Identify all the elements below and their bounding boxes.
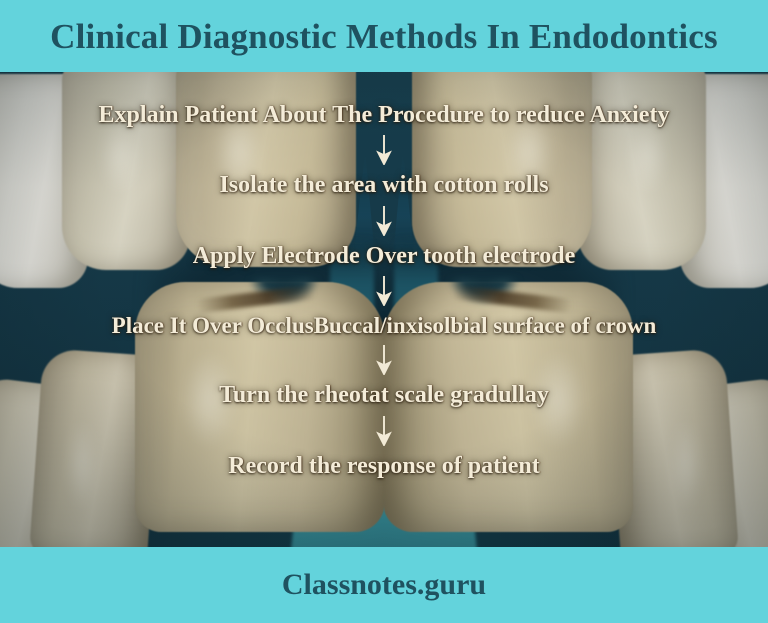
page-title: Clinical Diagnostic Methods In Endodonti… — [50, 19, 718, 54]
flow-step-6: Record the response of patient — [228, 453, 540, 479]
flowchart: Explain Patient About The Procedure to r… — [0, 72, 768, 547]
site-name: Classnotes.guru — [282, 570, 486, 600]
poster: Clinical Diagnostic Methods In Endodonti… — [0, 0, 768, 623]
footer-band: Classnotes.guru — [0, 547, 768, 623]
flow-step-3: Apply Electrode Over tooth electrode — [193, 243, 576, 269]
down-arrow-icon — [375, 416, 393, 446]
down-arrow-icon — [375, 135, 393, 165]
down-arrow-icon — [375, 345, 393, 375]
title-band: Clinical Diagnostic Methods In Endodonti… — [0, 0, 768, 72]
flow-step-1: Explain Patient About The Procedure to r… — [99, 102, 670, 128]
down-arrow-icon — [375, 276, 393, 306]
flow-step-4: Place It Over OcclusBuccal/inxisolbial s… — [112, 313, 657, 338]
flow-step-2: Isolate the area with cotton rolls — [219, 172, 548, 198]
flow-step-5: Turn the rheotat scale gradullay — [219, 382, 549, 408]
down-arrow-icon — [375, 206, 393, 236]
